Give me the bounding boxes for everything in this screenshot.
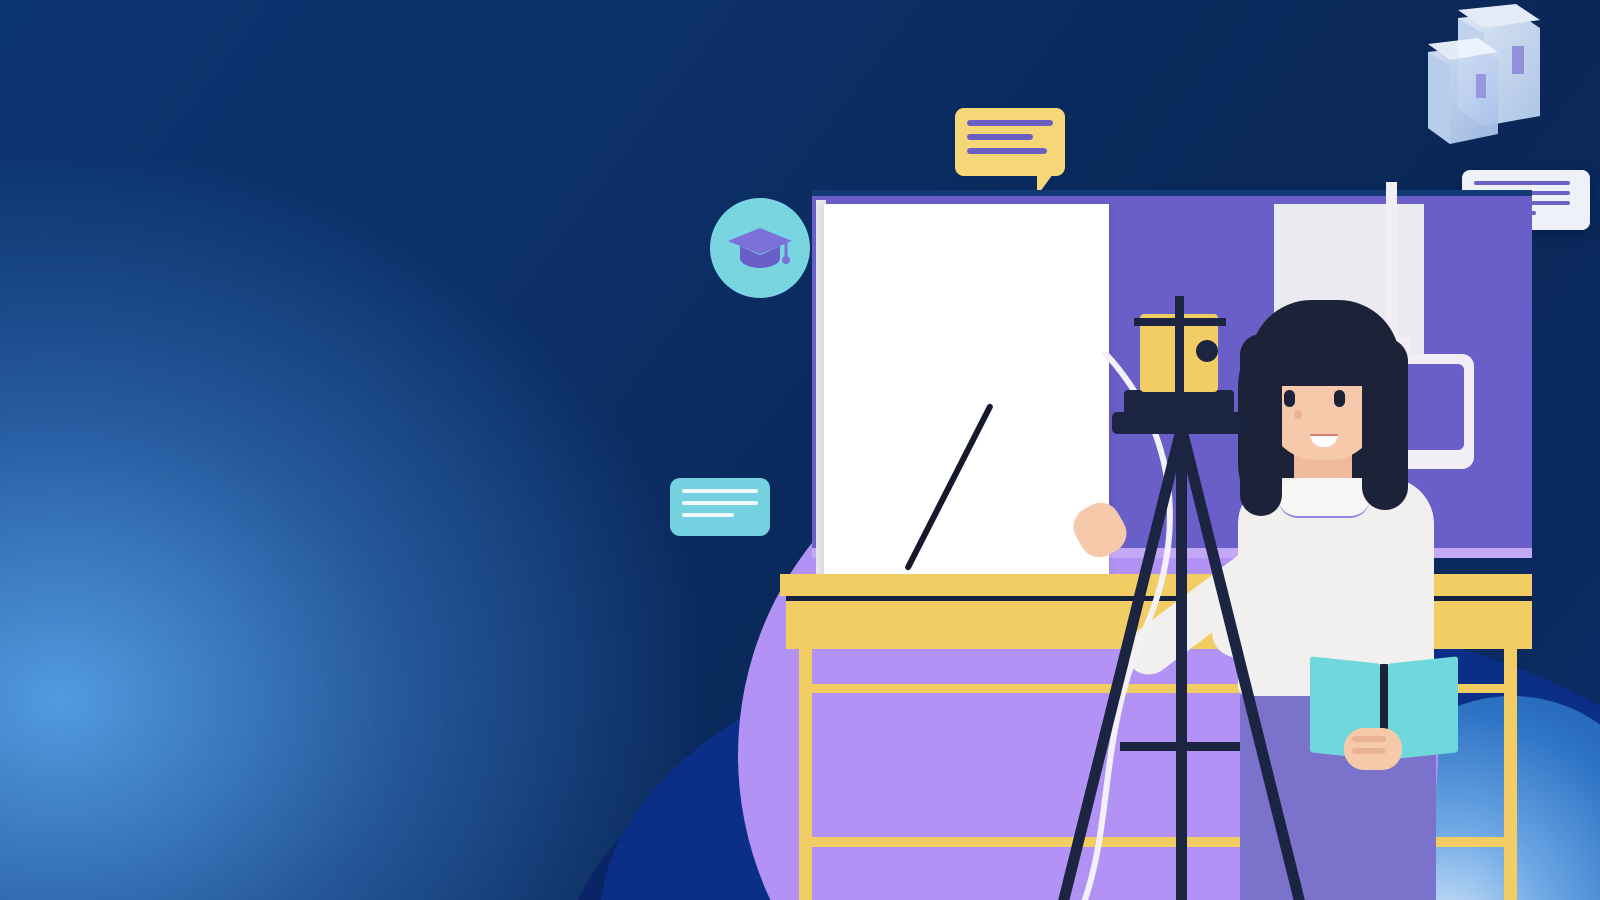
leg-right	[1346, 802, 1424, 900]
eye-left	[1284, 390, 1295, 407]
yellow-speech-bubble-icon	[955, 108, 1065, 176]
tripod-leg-center	[1176, 428, 1187, 900]
instrument-mount-horizontal	[1134, 318, 1226, 326]
hair-side-right	[1362, 338, 1408, 510]
tripod-leg-left	[1050, 427, 1186, 900]
background-bar-chart	[0, 470, 430, 900]
tripod-leg-right	[1176, 427, 1312, 900]
tripod-brace	[1120, 742, 1240, 751]
hand-lower	[1344, 728, 1402, 770]
instrument-lens	[1196, 340, 1218, 362]
instrument-mount-vertical	[1175, 296, 1184, 396]
poster-canvas	[0, 0, 1600, 900]
nose	[1294, 410, 1302, 419]
camera-tripod	[1064, 422, 1294, 900]
finger-2	[1352, 748, 1386, 754]
finger-1	[1352, 736, 1386, 742]
stacked-books-icon	[1380, 4, 1560, 184]
eye-right	[1334, 390, 1345, 407]
classroom-illustration	[724, 182, 1600, 900]
tripod-base	[1112, 412, 1246, 434]
